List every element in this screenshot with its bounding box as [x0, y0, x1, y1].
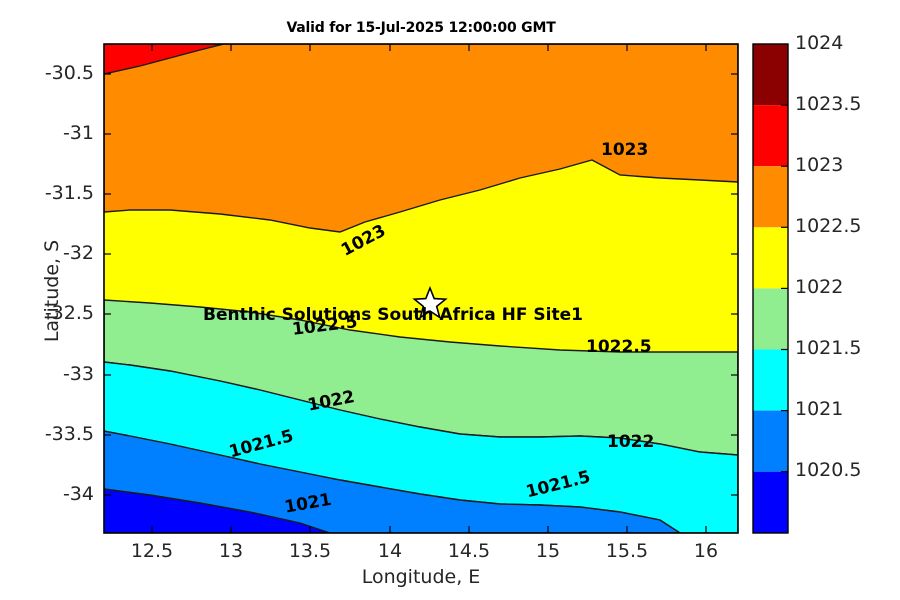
cb-swatch-1022	[753, 288, 788, 349]
x-tick-label: 14.5	[429, 540, 509, 562]
contour-plot-figure: Valid for 15-Jul-2025 12:00:00 GMT	[0, 0, 900, 600]
colorbar-tick-label: 1022	[795, 276, 900, 298]
plot-canvas	[0, 0, 900, 600]
x-axis-title: Longitude, E	[104, 566, 738, 588]
cb-swatch-1023	[753, 166, 788, 227]
colorbar-tick-label: 1022.5	[795, 215, 900, 237]
x-tick-label: 16	[666, 540, 746, 562]
colorbar-tick-label: 1020.5	[795, 459, 900, 481]
cb-swatch-1022_5	[753, 227, 788, 288]
x-tick-label: 14	[350, 540, 430, 562]
y-tick-label: -30.5	[4, 62, 94, 84]
cb-swatch-1021	[753, 411, 788, 472]
cb-swatch-1023_5	[753, 105, 788, 166]
colorbar	[753, 44, 788, 533]
colorbar-tick-label: 1023	[795, 154, 900, 176]
colorbar-tick-label: 1021	[795, 398, 900, 420]
y-axis-title: Latitude, S	[41, 181, 63, 401]
contour-label: 1022.5	[586, 337, 652, 357]
y-tick-label: -34	[4, 483, 94, 505]
x-tick-label: 13	[191, 540, 271, 562]
colorbar-tick-label: 1021.5	[795, 337, 900, 359]
colorbar-tick-label: 1024	[795, 32, 900, 54]
y-tick-label: -31	[4, 122, 94, 144]
y-tick-label: -33.5	[4, 423, 94, 445]
cb-swatch-1024	[753, 44, 788, 105]
cb-swatch-1020_5	[753, 472, 788, 533]
colorbar-tick-label: 1023.5	[795, 93, 900, 115]
x-tick-label: 12.5	[112, 540, 192, 562]
contour-fill-group	[104, 44, 738, 533]
contour-label: 1022	[607, 432, 654, 452]
x-tick-label: 15.5	[587, 540, 667, 562]
cb-swatch-1021_5	[753, 350, 788, 411]
x-tick-label: 15	[508, 540, 588, 562]
site-label: Benthic Solutions South Africa HF Site1	[203, 305, 583, 325]
contour-label: 1023	[601, 140, 648, 160]
x-tick-label: 13.5	[270, 540, 350, 562]
